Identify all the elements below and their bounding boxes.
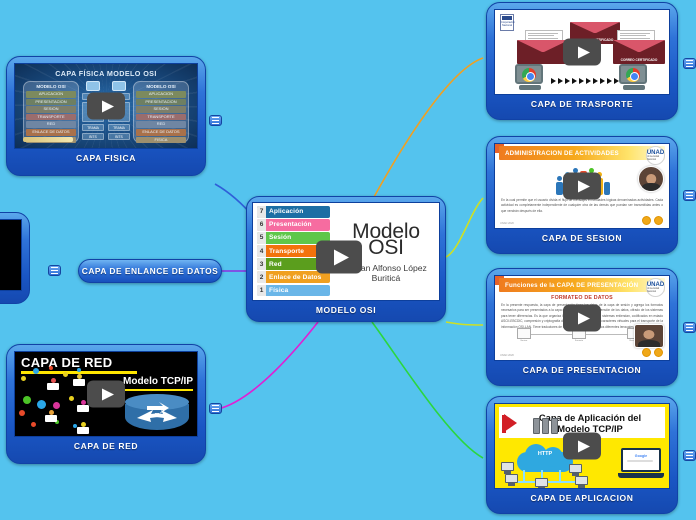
capa-de-presentacion-thumbnail[interactable]: Funciones de la CAPA DE PRESENTACIÓN UNA…: [494, 275, 670, 361]
node-caption: CAPA DE ENLANCE DE DATOS: [82, 266, 218, 276]
layer-number: 6: [257, 219, 266, 231]
panel-layer: APLICACION: [26, 91, 76, 98]
panel-layer: PRESENTACION: [136, 99, 186, 106]
node-capa-de-aplicacion[interactable]: Capa de Aplicación del Modelo TCP/IP HTT…: [486, 396, 678, 514]
chrome-icon: [522, 68, 536, 82]
user-icon: [47, 378, 59, 390]
computer-icon: [505, 474, 518, 486]
layer-label: Enlace de Datos: [266, 274, 330, 281]
envelope-left: [517, 40, 569, 64]
cloud-label: HTTP: [538, 451, 552, 457]
router-cylinder: [125, 394, 189, 430]
router-arrows: [125, 400, 189, 436]
collapse-toggle-capa-fisica[interactable]: [209, 115, 222, 126]
computer-icon: [535, 478, 548, 489]
red-thumb-subtitle: Modelo TCP/IP: [123, 376, 193, 387]
envelope-label: CORREO CERTIFICADO: [613, 58, 665, 62]
slide-footer: UNAD 2020: [500, 354, 514, 357]
slide-band-title: ADMINISTRACION DE ACTIVIDADES: [499, 150, 619, 157]
panel-layer: TRANSPORTE: [26, 114, 76, 121]
layer-number: 4: [257, 245, 266, 257]
panel-layer: SESION: [136, 106, 186, 113]
panel-layer: APLICACION: [136, 91, 186, 98]
collapse-toggle-capa-de-aplicacion[interactable]: [683, 450, 696, 461]
institution-logo: Corporación Nacional: [500, 14, 514, 31]
layer-row: 7 Aplicación: [257, 206, 330, 218]
panel-layer: RED: [26, 121, 76, 128]
capa-fisica-thumbnail[interactable]: CAPA FÍSICA MODELO OSI MODELO OSI APLICA…: [14, 63, 198, 149]
osi-panel-heading-right: MODELO OSI: [136, 84, 186, 90]
node-capa-de-red[interactable]: CAPA DE RED Modelo TCP/IP: [6, 344, 206, 464]
node-caption: CAPA DE APLICACION: [494, 489, 670, 508]
capa-de-trasporte-thumbnail[interactable]: Corporación Nacional CORREO CERTIFICADO …: [494, 9, 670, 95]
node-caption: CAPA DE PRESENTACION: [494, 361, 670, 380]
panel-layer: ENLACE DE DATOS: [136, 129, 186, 136]
play-icon[interactable]: [563, 39, 601, 66]
collapse-toggle-capa-de-trasporte[interactable]: [683, 58, 696, 69]
layer-number: 3: [257, 258, 266, 270]
user-icon: [77, 422, 89, 434]
badge-subtext: Universidad Nacional: [647, 156, 664, 162]
capa-de-sesion-thumbnail[interactable]: ADMINISTRACION DE ACTIVIDADES UNAD Unive…: [494, 143, 670, 229]
arrow-bar: [23, 137, 73, 142]
offscreen-thumbnail[interactable]: [0, 219, 22, 291]
mid-label: BITS: [108, 133, 130, 140]
osi-panel-heading-left: MODELO OSI: [26, 84, 76, 90]
node-caption: MODELO OSI: [252, 301, 440, 320]
user-icon: [73, 374, 85, 386]
mindmap-canvas: CAPA FÍSICA MODELO OSI MODELO OSI APLICA…: [0, 0, 696, 520]
node-capa-de-trasporte[interactable]: Corporación Nacional CORREO CERTIFICADO …: [486, 2, 678, 120]
layer-row: 1 Física: [257, 285, 330, 297]
layer-number: 1: [257, 285, 266, 297]
computer-icon: [569, 464, 582, 476]
laptop-browser: Google: [618, 448, 664, 478]
osi-title-line2: OSI: [368, 238, 404, 257]
computer-icon: [501, 462, 514, 474]
chrome-icon: [626, 68, 640, 82]
node-modelo-osi-central[interactable]: 7 Aplicación 6 Presentación 5 Sesión 4 T…: [246, 196, 446, 322]
slide-body-text: En la cual permite que el usuario divida…: [501, 198, 663, 214]
user-icon: [45, 410, 57, 422]
diagram-caption-mid: Formato: [571, 340, 587, 342]
collapse-toggle-enlance-de-datos[interactable]: [48, 265, 61, 276]
layer-number: 2: [257, 271, 266, 283]
computer-icon: [86, 81, 100, 91]
osi-panel-left: MODELO OSI APLICACION PRESENTACION SESIO…: [23, 81, 79, 143]
layer-label: Aplicación: [266, 208, 330, 215]
layer-label: Presentación: [266, 221, 330, 228]
slide-header-band: ADMINISTRACION DE ACTIVIDADES: [499, 146, 665, 160]
capa-de-aplicacion-thumbnail[interactable]: Capa de Aplicación del Modelo TCP/IP HTT…: [494, 403, 670, 489]
play-icon[interactable]: [563, 305, 601, 332]
computer-icon: [112, 81, 126, 91]
diagram-caption-left: Emisor: [516, 340, 532, 342]
play-icon[interactable]: [563, 173, 601, 200]
browser-label: Google: [635, 454, 647, 458]
collapse-toggle-capa-de-red[interactable]: [209, 403, 222, 414]
logo-text: Corporación Nacional: [501, 21, 513, 27]
slide-footer-icons: [642, 348, 663, 357]
panel-layer: RED: [136, 121, 186, 128]
play-icon[interactable]: [87, 93, 125, 120]
layer-label: Física: [266, 287, 330, 294]
node-offscreen-left[interactable]: [0, 212, 30, 304]
play-icon[interactable]: [563, 433, 601, 460]
node-caption: CAPA DE RED: [14, 437, 198, 456]
panel-layer: ENLACE DE DATOS: [26, 129, 76, 136]
mid-label: TRAMA: [108, 124, 130, 131]
panel-layer: TRANSPORTE: [136, 114, 186, 121]
computer-right: [619, 64, 649, 90]
play-icon[interactable]: [316, 241, 362, 274]
webcam-inset: [634, 324, 664, 348]
computer-left: [515, 64, 545, 90]
mid-label: BITS: [82, 133, 104, 140]
modelo-osi-thumbnail[interactable]: 7 Aplicación 6 Presentación 5 Sesión 4 T…: [252, 202, 440, 301]
node-capa-de-sesion[interactable]: ADMINISTRACION DE ACTIVIDADES UNAD Unive…: [486, 136, 678, 254]
slide-band-title: Funciones de la CAPA DE PRESENTACIÓN: [499, 282, 638, 289]
slide-footer: UNAD 2020: [500, 222, 514, 225]
layer-number: 5: [257, 232, 266, 244]
panel-layer: FISICA: [136, 137, 186, 144]
capa-de-red-thumbnail[interactable]: CAPA DE RED Modelo TCP/IP: [14, 351, 198, 437]
node-caption: CAPA DE SESION: [494, 229, 670, 248]
play-icon[interactable]: [87, 381, 125, 408]
red-bars-icon: [502, 415, 506, 433]
panel-layer: PRESENTACION: [26, 99, 76, 106]
webcam-inset: [638, 166, 664, 192]
node-capa-de-enlance-de-datos[interactable]: CAPA DE ENLANCE DE DATOS: [78, 259, 222, 283]
unad-logo-badge: UNAD Universidad Nacional: [646, 146, 665, 165]
node-caption: CAPA DE TRASPORTE: [494, 95, 670, 114]
node-capa-de-presentacion[interactable]: Funciones de la CAPA DE PRESENTACIÓN UNA…: [486, 268, 678, 386]
capa-fisica-thumb-title: CAPA FÍSICA MODELO OSI: [15, 69, 197, 78]
osi-panel-right: MODELO OSI APLICACION PRESENTACION SESIO…: [133, 81, 189, 143]
node-caption: CAPA FISICA: [14, 149, 198, 168]
layer-number: 7: [257, 206, 266, 218]
slide-header-band: Funciones de la CAPA DE PRESENTACIÓN: [499, 278, 665, 292]
slide-subtitle: FORMATEO DE DATOS: [495, 295, 669, 301]
collapse-toggle-capa-de-presentacion[interactable]: [683, 322, 696, 333]
panel-layer: SESION: [26, 106, 76, 113]
layer-row: 6 Presentación: [257, 219, 330, 231]
mid-label: TRAMA: [82, 124, 104, 131]
slide-footer-icons: [642, 216, 663, 225]
computer-icon: [575, 476, 588, 488]
collapse-toggle-capa-de-sesion[interactable]: [683, 190, 696, 201]
envelope-right: CORREO CERTIFICADO: [613, 40, 665, 64]
node-capa-fisica[interactable]: CAPA FÍSICA MODELO OSI MODELO OSI APLICA…: [6, 56, 206, 176]
badge-subtext: Universidad Nacional: [647, 288, 664, 294]
